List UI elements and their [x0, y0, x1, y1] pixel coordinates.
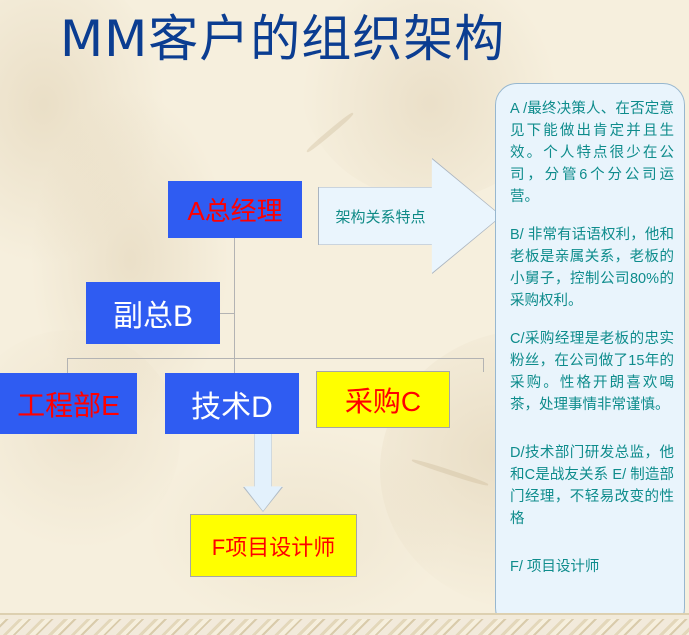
- org-node-engineering-dept[interactable]: 工程部E: [0, 373, 137, 434]
- connector-line-c-branch: [234, 358, 484, 359]
- connector-line-c-drop: [483, 358, 484, 372]
- org-node-label: 副总B: [113, 291, 193, 335]
- org-node-technical[interactable]: 技术D: [165, 373, 299, 434]
- info-panel: A /最终决策人、在否定意见下能做出肯定并且生效。个人特点很少在公司，分管6个分…: [495, 83, 685, 630]
- info-paragraph-a: A /最终决策人、在否定意见下能做出肯定并且生效。个人特点很少在公司，分管6个分…: [510, 98, 674, 208]
- info-paragraph-b: B/ 非常有话语权利，他和老板是亲属关系，老板的小舅子，控制公司80%的采购权利…: [510, 224, 674, 312]
- org-node-general-manager[interactable]: A总经理: [168, 181, 302, 238]
- arrow-down-icon: [243, 434, 283, 512]
- org-node-label: 工程部E: [17, 384, 120, 424]
- org-node-purchasing[interactable]: 采购C: [316, 371, 450, 428]
- connector-line-d-drop: [234, 358, 235, 374]
- info-paragraph-f: F/ 项目设计师: [510, 556, 674, 578]
- slide-canvas: MM客户的组织架构 A总经理 副总B 工程部E 技术D 采购C F项目设计师 架…: [0, 0, 689, 635]
- connector-line-lower-bus: [67, 358, 235, 359]
- org-node-vice-president[interactable]: 副总B: [86, 282, 220, 344]
- connector-line-e-drop: [67, 358, 68, 374]
- connector-line-b-branch: [220, 313, 235, 314]
- connector-line-a-trunk: [234, 238, 235, 358]
- callout-arrow-label: 架构关系特点: [328, 158, 433, 274]
- org-node-label: 采购C: [345, 380, 421, 420]
- org-node-label: 技术D: [191, 382, 273, 426]
- background-texture-blotch: [0, 330, 180, 550]
- info-paragraph-de: D/技术部门研发总监，他和C是战友关系 E/ 制造部门经理，不轻易改变的性格: [510, 442, 674, 530]
- org-node-project-designer[interactable]: F项目设计师: [190, 514, 357, 577]
- org-node-label: A总经理: [187, 191, 282, 228]
- callout-arrow-right[interactable]: 架构关系特点: [318, 158, 502, 274]
- arrow-down-fill: [244, 434, 282, 511]
- background-branch-wisp: [305, 111, 354, 153]
- info-paragraph-c: C/采购经理是老板的忠实粉丝，在公司做了15年的采购。性格开朗喜欢喝茶，处理事情…: [510, 328, 674, 416]
- org-node-label: F项目设计师: [212, 530, 335, 562]
- background-branch-wisp: [411, 458, 489, 487]
- decorative-bottom-border: [0, 613, 689, 635]
- page-title: MM客户的组织架构: [60, 8, 630, 70]
